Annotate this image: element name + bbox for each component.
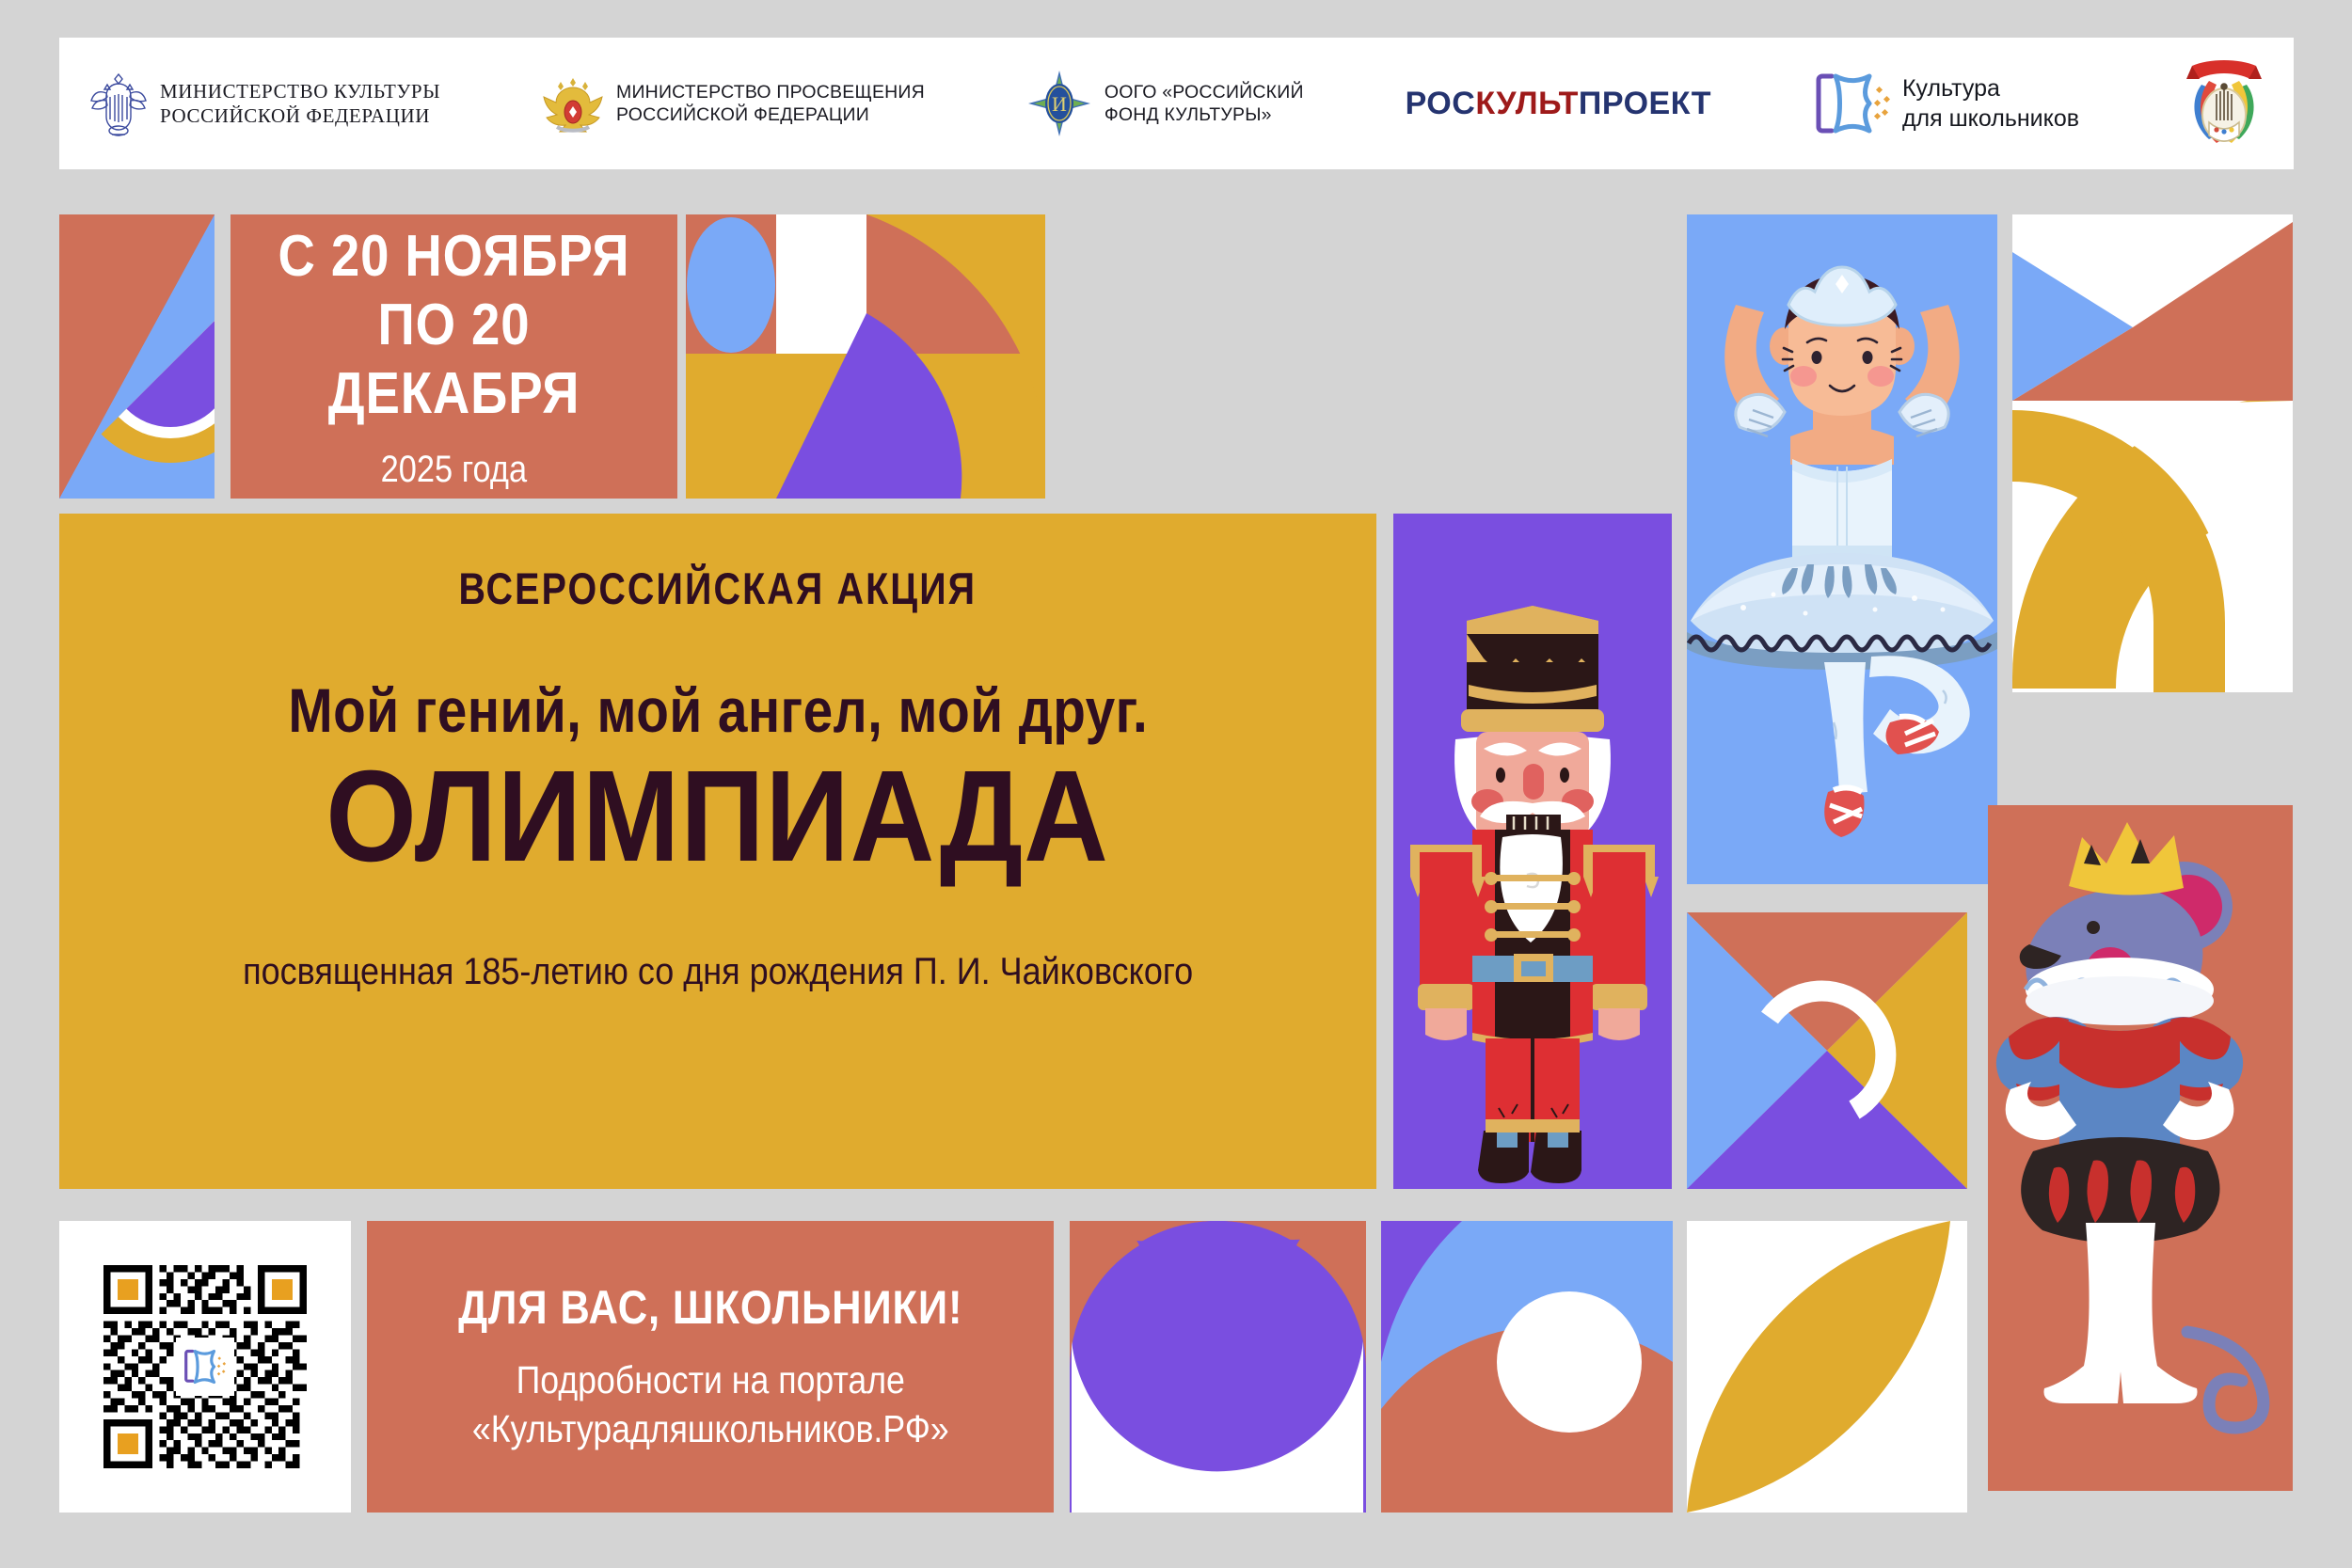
- minkult-emblem-icon: [89, 69, 148, 138]
- title-line-2: ОЛИМПИАДА: [326, 752, 1110, 881]
- music-school-emblem-icon: [2181, 56, 2267, 150]
- decor-tile-blue-salmon-dot: [1381, 1221, 1673, 1513]
- russian-culture-fund-star-icon: И: [1026, 69, 1092, 138]
- illustration-nutcracker: [1393, 514, 1672, 1189]
- cta-headline: ДЛЯ ВАС, ШКОЛЬНИКИ!: [458, 1280, 962, 1335]
- decor-tile-triangles: [2012, 214, 2293, 401]
- kicker-text: ВСЕРОССИЙСКАЯ АКЦИЯ: [459, 562, 977, 614]
- illustration-ballerina: [1687, 214, 1997, 884]
- logo-label: Культура для школьников: [1902, 73, 2079, 135]
- logo-ministry-of-education: МИНИСТЕРСТВО ПРОСВЕЩЕНИЯ РОССИЙСКОЙ ФЕДЕ…: [542, 69, 925, 138]
- main-title-panel: ВСЕРОССИЙСКАЯ АКЦИЯ Мой гений, мой ангел…: [59, 514, 1376, 1189]
- partner-logo-bar: МИНИСТЕРСТВО КУЛЬТУРЫ РОССИЙСКОЙ ФЕДЕРАЦ…: [59, 38, 2294, 169]
- cta-details: Подробности на портале «Культурадляшколь…: [472, 1355, 949, 1454]
- double-eagle-emblem-icon: [542, 69, 604, 138]
- logo-ministry-of-culture: МИНИСТЕРСТВО КУЛЬТУРЫ РОССИЙСКОЙ ФЕДЕРАЦ…: [89, 69, 440, 138]
- decor-tile-purple-white-circle: [1070, 1221, 1366, 1513]
- decor-tile-semicircles: [59, 214, 215, 499]
- decor-tile-circle-square-arc: [686, 214, 1045, 499]
- poster-root: МИНИСТЕРСТВО КУЛЬТУРЫ РОССИЙСКОЙ ФЕДЕРАЦ…: [0, 0, 2352, 1568]
- logo-label: ООГО «РОССИЙСКИЙ ФОНД КУЛЬТУРЫ»: [1104, 81, 1304, 127]
- decor-tile-yellow-lens: [1687, 1221, 1967, 1513]
- rkp-part-c: ПРОЕКТ: [1579, 86, 1711, 121]
- logo-kultura-dlya-shkolnikov: Культура для школьников: [1813, 69, 2079, 138]
- decor-tile-yellow-arc-ring: [2012, 401, 2293, 692]
- logo-roskultproekt: РОСКУЛЬТПРОЕКТ: [1406, 86, 1712, 122]
- qr-code-panel[interactable]: [59, 1221, 351, 1513]
- title-line-1: Мой гений, мой ангел, мой друг.: [288, 674, 1148, 746]
- logo-music-school: [2181, 56, 2267, 150]
- kultura-dlya-shkolnikov-icon: [1813, 69, 1890, 138]
- svg-text:И: И: [1052, 92, 1067, 116]
- logo-russian-culture-fund: И ООГО «РОССИЙСКИЙ ФОНД КУЛЬТУРЫ»: [1026, 69, 1304, 138]
- cta-panel: ДЛЯ ВАС, ШКОЛЬНИКИ! Подробности на порта…: [367, 1221, 1054, 1513]
- date-year-text: 2025 года: [381, 449, 527, 491]
- qr-center-logo-icon: [176, 1338, 234, 1396]
- rkp-part-a: РОС: [1406, 86, 1476, 121]
- qr-code-image[interactable]: [103, 1265, 307, 1468]
- illustration-mouse-king: [1988, 805, 2293, 1491]
- rkp-part-b: КУЛЬТ: [1475, 86, 1579, 121]
- logo-label: МИНИСТЕРСТВО ПРОСВЕЩЕНИЯ РОССИЙСКОЙ ФЕДЕ…: [616, 81, 925, 127]
- decor-tile-quad-triangle-ring: [1687, 912, 1967, 1189]
- logo-label: МИНИСТЕРСТВО КУЛЬТУРЫ РОССИЙСКОЙ ФЕДЕРАЦ…: [160, 79, 440, 129]
- date-panel: С 20 НОЯБРЯ ПО 20 ДЕКАБРЯ 2025 года: [230, 214, 677, 499]
- title-subtitle: посвященная 185-летию со дня рождения П.…: [243, 951, 1193, 993]
- roskultproekt-wordmark-icon: РОСКУЛЬТПРОЕКТ: [1406, 86, 1712, 122]
- date-range-text: С 20 НОЯБРЯ ПО 20 ДЕКАБРЯ: [258, 222, 651, 428]
